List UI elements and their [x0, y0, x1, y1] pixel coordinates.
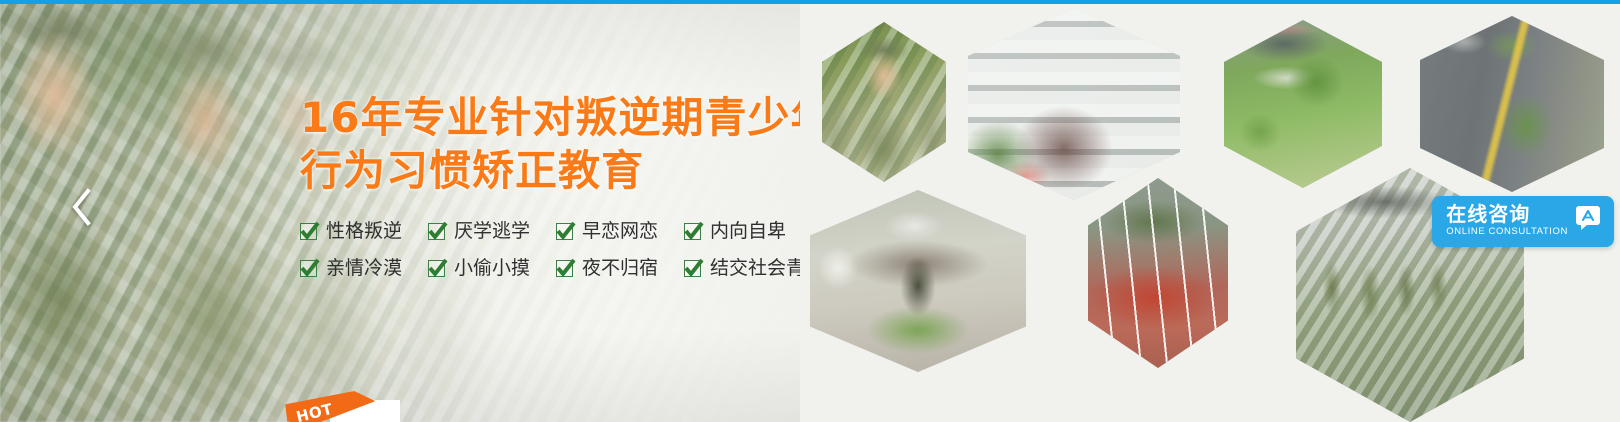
checkbox-checked-icon: [428, 223, 445, 240]
feature-label: 小偷小摸: [454, 259, 530, 278]
hex-tile-garden-courtyard[interactable]: [1224, 20, 1382, 188]
feature-row: 亲情冷漠 小偷小摸: [300, 259, 790, 278]
headline-line-2: 行为习惯矫正教育: [300, 145, 790, 198]
feature-label: 内向自卑: [710, 222, 786, 241]
feature-item: 小偷小摸: [428, 259, 530, 278]
headline-line-1: 16年专业针对叛逆期青少年: [300, 93, 800, 142]
feature-row: 性格叛逆 厌学逃学: [300, 222, 790, 241]
consultation-title-en: ONLINE CONSULTATION: [1446, 226, 1568, 238]
feature-item: 亲情冷漠: [300, 259, 402, 278]
feature-item: 结交社会青年: [684, 259, 800, 278]
hot-badge[interactable]: HOT: [286, 386, 396, 422]
checkbox-checked-icon: [300, 260, 317, 277]
checkbox-checked-icon: [556, 260, 573, 277]
checkbox-checked-icon: [684, 223, 701, 240]
checkbox-checked-icon: [556, 223, 573, 240]
consultation-text: 在线咨询 ONLINE CONSULTATION: [1446, 203, 1568, 239]
hero-headline: 16年专业针对叛逆期青少年 行为习惯矫正教育: [300, 92, 790, 198]
top-accent-bar: [0, 0, 1620, 4]
checkbox-checked-icon: [684, 260, 701, 277]
feature-item: 内向自卑: [684, 222, 786, 241]
hero-copy: 16年专业针对叛逆期青少年 行为习惯矫正教育 性格叛逆: [300, 92, 790, 278]
feature-item: 厌学逃学: [428, 222, 530, 241]
feature-item: 早恋网恋: [556, 222, 658, 241]
online-consultation-button[interactable]: 在线咨询 ONLINE CONSULTATION: [1432, 196, 1614, 247]
feature-label: 早恋网恋: [582, 222, 658, 241]
carousel-prev-button[interactable]: [58, 176, 106, 238]
feature-label: 性格叛逆: [326, 222, 402, 241]
checkbox-checked-icon: [428, 260, 445, 277]
feature-label: 结交社会青年: [710, 259, 800, 278]
hex-tile-statue-plaza[interactable]: [810, 190, 1026, 372]
chat-bubble-icon: [1574, 204, 1602, 232]
consultation-title-cn: 在线咨询: [1446, 203, 1568, 225]
hex-tile-campus-road[interactable]: [1420, 16, 1604, 192]
hero-carousel: 16年专业针对叛逆期青少年 行为习惯矫正教育 性格叛逆: [0, 0, 800, 422]
feature-label: 厌学逃学: [454, 222, 530, 241]
hex-tile-school-building[interactable]: [968, 8, 1180, 200]
hex-tile-cadet-portrait[interactable]: [822, 22, 946, 182]
feature-label: 亲情冷漠: [326, 259, 402, 278]
feature-item: 夜不归宿: [556, 259, 658, 278]
hex-tile-running-track[interactable]: [1088, 178, 1228, 368]
feature-checklist: 性格叛逆 厌学逃学: [300, 222, 790, 278]
feature-item: 性格叛逆: [300, 222, 402, 241]
chevron-left-icon: [70, 187, 94, 227]
checkbox-checked-icon: [300, 223, 317, 240]
feature-label: 夜不归宿: [582, 259, 658, 278]
banner-section: 16年专业针对叛逆期青少年 行为习惯矫正教育 性格叛逆: [0, 0, 1620, 422]
